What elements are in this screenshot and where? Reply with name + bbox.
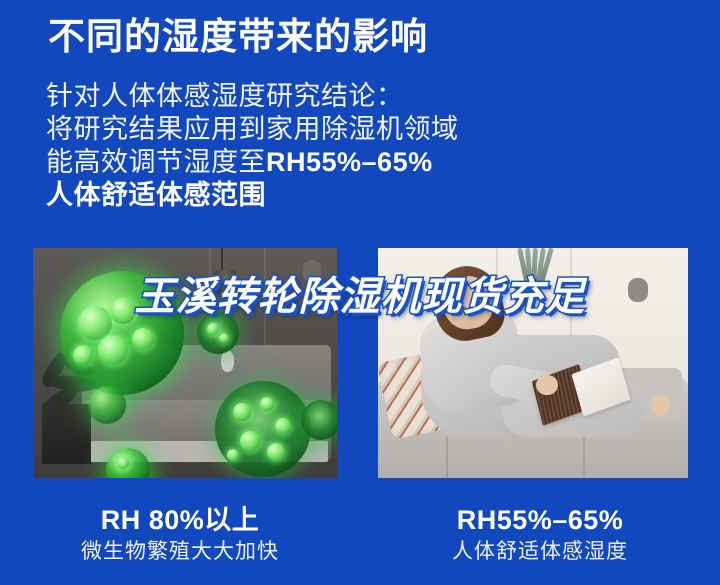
right-photo-person-hand bbox=[536, 375, 558, 396]
microbe-icon bbox=[301, 400, 337, 440]
right-photo-person-foot bbox=[651, 395, 670, 416]
page-title: 不同的湿度带来的影响 bbox=[48, 14, 428, 60]
caption-left-subtitle: 微生物繁殖大大加快 bbox=[0, 537, 360, 567]
caption-right-subtitle: 人体舒适体感湿度 bbox=[360, 537, 720, 567]
caption-left-title: RH 80%以上 bbox=[0, 503, 360, 537]
microbe-icon bbox=[88, 386, 126, 424]
body-copy-block: 针对人体体感湿度研究结论： 将研究结果应用到家用除湿机领域 能高效调节湿度至RH… bbox=[46, 80, 516, 212]
body-line-2: 将研究结果应用到家用除湿机领域 bbox=[46, 113, 516, 146]
right-photo-sofa-seam bbox=[583, 437, 585, 478]
body-line-3: 能高效调节湿度至RH55%–65% bbox=[46, 146, 516, 179]
body-line-1: 针对人体体感湿度研究结论： bbox=[46, 80, 516, 113]
body-line-4: 人体舒适体感范围 bbox=[46, 179, 516, 212]
body-line-3-emphasis: RH55%–65% bbox=[266, 147, 433, 177]
caption-right-title: RH55%–65% bbox=[360, 503, 720, 537]
overlay-promo-text: 玉溪转轮除湿机现货充足 bbox=[0, 274, 720, 320]
caption-left: RH 80%以上 微生物繁殖大大加快 bbox=[0, 503, 360, 567]
right-photo-sofa-seam bbox=[446, 437, 448, 478]
caption-right: RH55%–65% 人体舒适体感湿度 bbox=[360, 503, 720, 567]
poster-root: 不同的湿度带来的影响 针对人体体感湿度研究结论： 将研究结果应用到家用除湿机领域… bbox=[0, 0, 720, 585]
body-line-3-prefix: 能高效调节湿度至 bbox=[46, 147, 266, 177]
